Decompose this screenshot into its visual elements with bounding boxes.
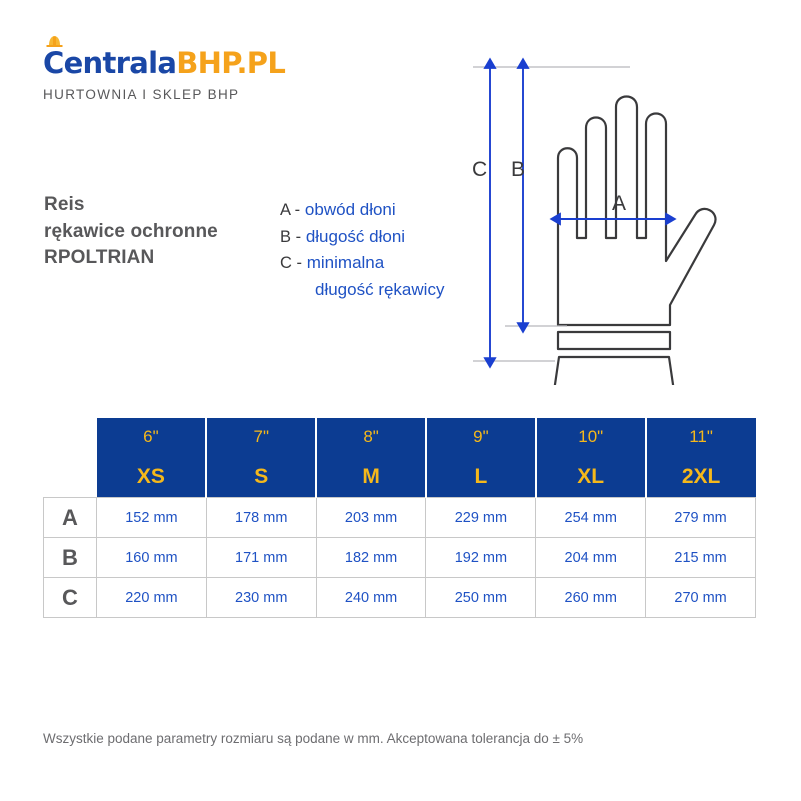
cell-c-l: 250 mm — [426, 578, 536, 618]
product-type: rękawice ochronne — [44, 219, 218, 246]
cell-a-xs: 152 mm — [97, 498, 207, 538]
legend-key-c: C - — [280, 254, 302, 272]
table-row-size-headers: XS S M L XL 2XL — [44, 456, 756, 498]
table-row: A 152 mm 178 mm 203 mm 229 mm 254 mm 279… — [44, 498, 756, 538]
logo-text-centrala: Centrala — [43, 46, 176, 80]
cell-c-m: 240 mm — [316, 578, 426, 618]
cell-c-xl: 260 mm — [536, 578, 646, 618]
product-title: Reis rękawice ochronne RPOLTRIAN — [44, 192, 218, 272]
table-corner-cell-2 — [44, 456, 97, 498]
row-label-c: C — [44, 578, 97, 618]
header-size-5: 2XL — [646, 456, 756, 498]
measurement-legend: A - obwód dłoni B - długość dłoni C - mi… — [280, 197, 444, 302]
legend-key-a: A - — [280, 201, 300, 219]
cell-b-s: 171 mm — [206, 538, 316, 578]
hardhat-icon — [45, 34, 64, 48]
header-size-2: M — [316, 456, 426, 498]
legend-item-c: C - minimalna — [280, 250, 444, 277]
dimension-label-b: B — [511, 158, 525, 182]
header-size-1: S — [206, 456, 316, 498]
logo-text-bhp: BHP — [176, 46, 236, 80]
cell-c-xs: 220 mm — [97, 578, 207, 618]
table-row: C 220 mm 230 mm 240 mm 250 mm 260 mm 270… — [44, 578, 756, 618]
cell-a-2xl: 279 mm — [646, 498, 756, 538]
header-size-4: XL — [536, 456, 646, 498]
cell-b-m: 182 mm — [316, 538, 426, 578]
cell-a-m: 203 mm — [316, 498, 426, 538]
legend-desc-c: minimalna — [307, 253, 384, 272]
dimension-label-c: C — [472, 158, 487, 182]
cell-c-2xl: 270 mm — [646, 578, 756, 618]
cell-b-2xl: 215 mm — [646, 538, 756, 578]
cell-a-xl: 254 mm — [536, 498, 646, 538]
product-brand: Reis — [44, 192, 218, 219]
dimension-label-a: A — [612, 192, 626, 216]
legend-item-b: B - długość dłoni — [280, 224, 444, 251]
table-row-inch-headers: 6" 7" 8" 9" 10" 11" — [44, 418, 756, 456]
header-inch-3: 9" — [426, 418, 536, 456]
logo-text-pl: .PL — [236, 46, 285, 80]
header-size-0: XS — [97, 456, 207, 498]
header-inch-2: 8" — [316, 418, 426, 456]
header-inch-5: 11" — [646, 418, 756, 456]
legend-key-b: B - — [280, 228, 301, 246]
cell-a-s: 178 mm — [206, 498, 316, 538]
header-inch-1: 7" — [206, 418, 316, 456]
header-inch-0: 6" — [97, 418, 207, 456]
legend-desc-c-continued: długość rękawicy — [280, 277, 444, 303]
legend-desc-b: długość dłoni — [306, 227, 405, 246]
legend-desc-a: obwód dłoni — [305, 200, 396, 219]
table-corner-cell — [44, 418, 97, 456]
cell-b-xl: 204 mm — [536, 538, 646, 578]
table-row: B 160 mm 171 mm 182 mm 192 mm 204 mm 215… — [44, 538, 756, 578]
logo-wordmark: CentralaBHP.PL — [43, 46, 343, 80]
size-table: 6" 7" 8" 9" 10" 11" XS S M L XL 2XL A 15… — [43, 418, 756, 618]
row-label-b: B — [44, 538, 97, 578]
header-inch-4: 10" — [536, 418, 646, 456]
legend-item-a: A - obwód dłoni — [280, 197, 444, 224]
product-model: RPOLTRIAN — [44, 245, 218, 272]
cell-b-xs: 160 mm — [97, 538, 207, 578]
cell-b-l: 192 mm — [426, 538, 536, 578]
cell-c-s: 230 mm — [206, 578, 316, 618]
row-label-a: A — [44, 498, 97, 538]
cell-a-l: 229 mm — [426, 498, 536, 538]
size-chart-page: CentralaBHP.PL HURTOWNIA I SKLEP BHP Rei… — [0, 0, 801, 801]
logo-tagline: HURTOWNIA I SKLEP BHP — [43, 87, 343, 102]
header-size-3: L — [426, 456, 536, 498]
tolerance-footnote: Wszystkie podane parametry rozmiaru są p… — [43, 731, 583, 746]
site-logo: CentralaBHP.PL HURTOWNIA I SKLEP BHP — [43, 46, 343, 102]
